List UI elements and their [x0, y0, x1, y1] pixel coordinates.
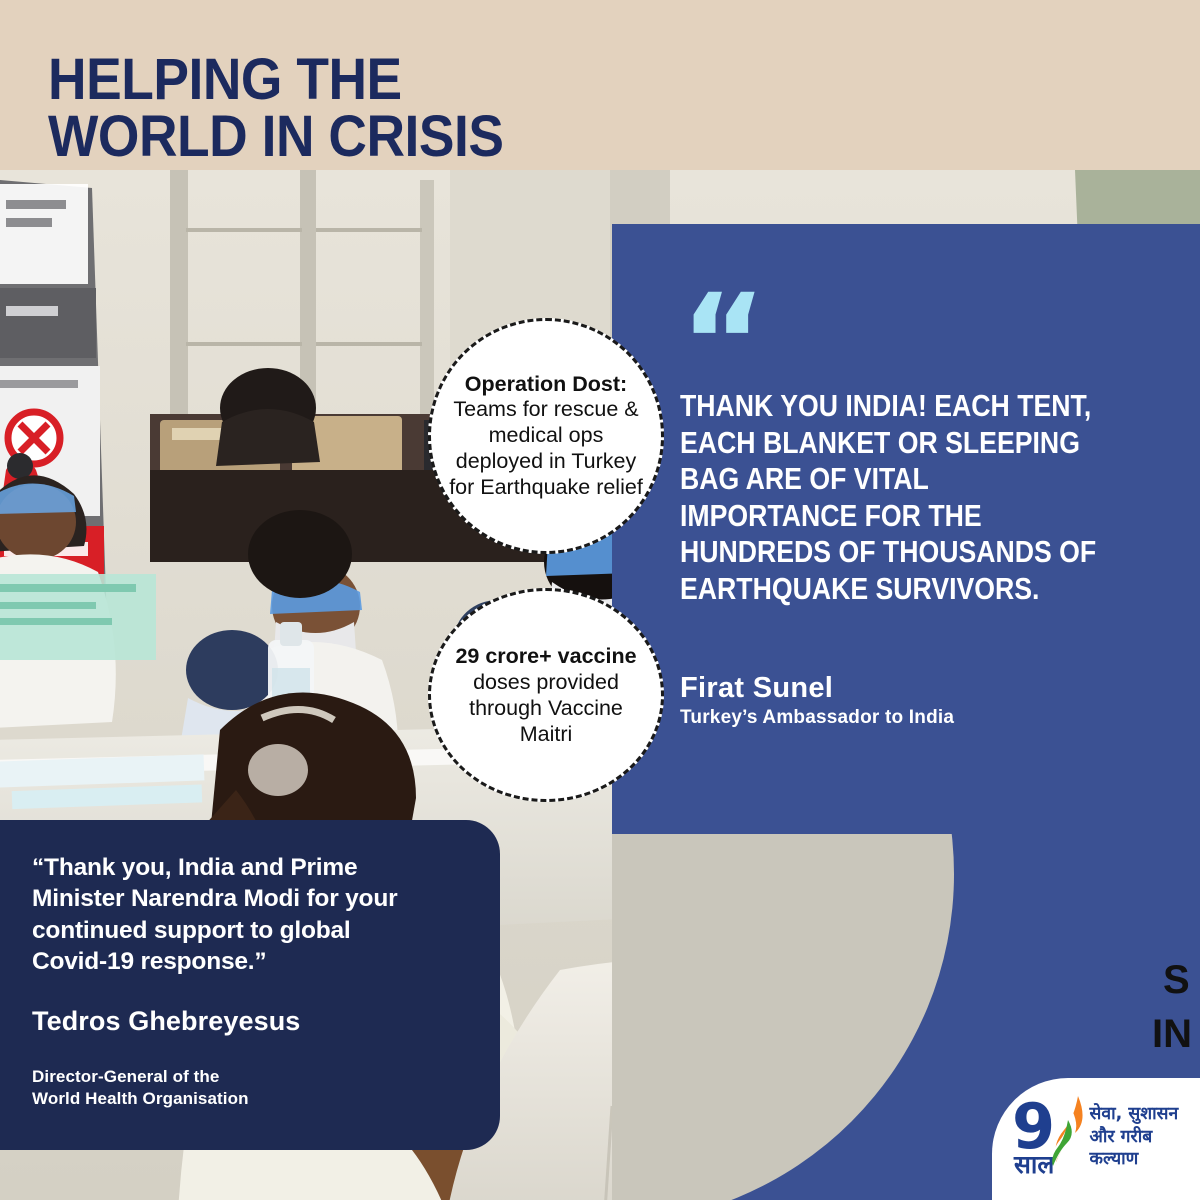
- callout-operation-dost: Operation Dost: Teams for rescue & medic…: [428, 318, 664, 554]
- callout-vaccine-maitri: 29 crore+ vaccine doses provided through…: [428, 588, 664, 802]
- callout-1-bold: Operation Dost:: [465, 372, 627, 396]
- secondary-quote-panel: “Thank you, India and Prime Minister Nar…: [0, 820, 500, 1150]
- callout-2-rest: doses provided through Vaccine Maitri: [469, 670, 623, 746]
- logo-tagline: सेवा, सुशासन और गरीब कल्याण: [1090, 1103, 1200, 1170]
- quote-panel-notch: [612, 834, 954, 1200]
- secondary-quote-author: Tedros Ghebreyesus: [32, 1006, 300, 1037]
- tricolour-flame-icon: [1048, 1094, 1088, 1166]
- secondary-quote-role: Director-General of the World Health Org…: [32, 1066, 432, 1111]
- callout-1-rest: Teams for rescue & medical ops deployed …: [449, 397, 643, 498]
- main-quote-role: Turkey’s Ambassador to India: [680, 707, 954, 729]
- logo-badge: 9 साल सेवा, सुशासन और गरीब कल्याण: [992, 1078, 1200, 1200]
- page-title: HELPING THE WORLD IN CRISIS: [48, 52, 504, 166]
- main-quote-author: Firat Sunel: [680, 672, 833, 705]
- main-quote-text: THANK YOU INDIA! EACH TENT, EACH BLANKET…: [680, 388, 1110, 607]
- callout-2-bold: 29 crore+ vaccine: [455, 644, 636, 668]
- secondary-quote-text: “Thank you, India and Prime Minister Nar…: [32, 852, 432, 977]
- poster-canvas: HELPING THE WORLD IN CRISIS “ THANK YOU …: [0, 0, 1200, 1200]
- photo-banner-letters-in: IN: [1152, 1012, 1192, 1057]
- nine-years-mark: 9 साल: [1012, 1094, 1082, 1180]
- logo-lockup: 9 साल सेवा, सुशासन और गरीब कल्याण: [1012, 1094, 1200, 1180]
- quote-mark-icon: “: [680, 296, 761, 391]
- photo-banner-letter-s: S: [1163, 958, 1190, 1003]
